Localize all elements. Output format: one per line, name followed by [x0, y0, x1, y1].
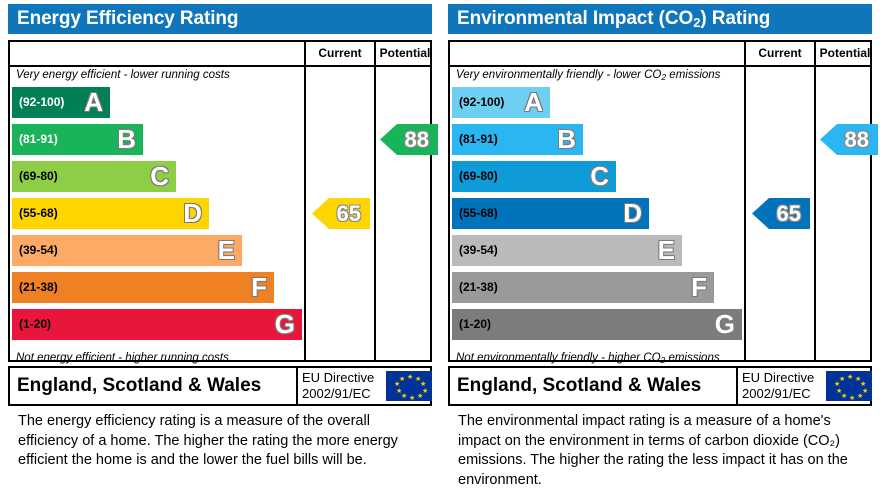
env-potential-rating-arrow: 88 [820, 124, 878, 155]
env-header-row-divider [450, 65, 870, 67]
energy-band-d: (55-68) D [12, 198, 209, 229]
energy-column-header-current: Current [306, 42, 374, 65]
energy-current-rating-arrow: 65 [312, 198, 370, 229]
env-band-e: (39-54) E [452, 235, 682, 266]
env-current-rating-arrow: 65 [752, 198, 810, 229]
environmental-panel-title-suffix: ) Rating [700, 8, 770, 29]
eu-flag-icon: ★ ★ ★ ★ ★ ★ ★ ★ ★ ★ [826, 371, 872, 401]
env-band-f-letter: F [691, 272, 707, 303]
energy-directive-line2: 2002/91/EC [302, 386, 382, 402]
env-caption-bottom-text: Not environmentally friendly - higher CO [456, 352, 661, 364]
env-band-d-letter: D [623, 198, 642, 229]
env-band-a-range: (92-100) [459, 87, 504, 118]
energy-caption-top: Very energy efficient - lower running co… [16, 69, 301, 81]
environmental-description-text: The environmental impact rating is a mea… [458, 412, 868, 490]
energy-band-a-letter: A [84, 87, 103, 118]
environmental-title-subscript: 2 [693, 15, 700, 30]
environmental-panel-title-text: Environmental Impact (CO [457, 8, 693, 29]
energy-band-c-letter: C [150, 161, 169, 192]
eu-flag-icon: ★ ★ ★ ★ ★ ★ ★ ★ ★ ★ [386, 371, 432, 401]
energy-footer-divider [296, 368, 298, 404]
energy-footer: England, Scotland & Wales EU Directive 2… [8, 366, 432, 406]
environmental-footer: England, Scotland & Wales EU Directive 2… [448, 366, 872, 406]
energy-panel-title: Energy Efficiency Rating [8, 4, 432, 34]
energy-band-e: (39-54) E [12, 235, 242, 266]
env-column-header-potential: Potential [816, 42, 874, 65]
env-caption-bottom-sub: 2 [661, 355, 666, 365]
env-caption-bottom-suffix: emissions [665, 352, 719, 364]
energy-caption-bottom: Not energy efficient - higher running co… [16, 352, 301, 364]
energy-band-d-range: (55-68) [19, 198, 58, 229]
env-band-a-letter: A [524, 87, 543, 118]
env-column-divider-current [744, 42, 746, 360]
env-band-c: (69-80) C [452, 161, 616, 192]
env-column-divider-potential [814, 42, 816, 360]
env-caption-top-sub: 2 [661, 72, 666, 82]
energy-band-e-letter: E [218, 235, 235, 266]
energy-description-text: The energy efficiency rating is a measur… [18, 412, 428, 471]
env-band-d: (55-68) D [452, 198, 649, 229]
env-footer-divider [736, 368, 738, 404]
energy-footer-region: England, Scotland & Wales [17, 368, 261, 404]
env-band-b: (81-91) B [452, 124, 583, 155]
energy-band-e-range: (39-54) [19, 235, 58, 266]
env-directive-line2: 2002/91/EC [742, 386, 822, 402]
energy-footer-directive: EU Directive 2002/91/EC [302, 370, 382, 402]
energy-band-d-letter: D [183, 198, 202, 229]
energy-band-a: (92-100) A [12, 87, 110, 118]
env-band-g-letter: G [715, 309, 735, 340]
energy-band-f-range: (21-38) [19, 272, 58, 303]
energy-potential-rating-arrow: 88 [380, 124, 438, 155]
environmental-rating-chart: Current Potential Very environmentally f… [448, 40, 872, 362]
energy-band-c: (69-80) C [12, 161, 176, 192]
env-band-a: (92-100) A [452, 87, 550, 118]
energy-rating-chart: Current Potential Very energy efficient … [8, 40, 432, 362]
energy-band-g: (1-20) G [12, 309, 302, 340]
environmental-impact-panel: Environmental Impact (CO2) Rating Curren… [442, 0, 878, 493]
environmental-panel-title: Environmental Impact (CO2) Rating [448, 4, 872, 34]
column-divider-potential [374, 42, 376, 360]
energy-band-a-range: (92-100) [19, 87, 64, 118]
energy-band-b-range: (81-91) [19, 124, 58, 155]
energy-band-g-range: (1-20) [19, 309, 51, 340]
env-band-g-range: (1-20) [459, 309, 491, 340]
env-caption-top-text: Very environmentally friendly - lower CO [456, 69, 661, 81]
env-caption-bottom: Not environmentally friendly - higher CO… [456, 352, 741, 364]
env-band-g: (1-20) G [452, 309, 742, 340]
env-band-e-range: (39-54) [459, 235, 498, 266]
energy-band-b-letter: B [117, 124, 136, 155]
env-footer-region: England, Scotland & Wales [457, 368, 701, 404]
env-column-header-current: Current [746, 42, 814, 65]
energy-panel-title-text: Energy Efficiency Rating [17, 8, 238, 29]
energy-band-f-letter: F [251, 272, 267, 303]
env-band-b-range: (81-91) [459, 124, 498, 155]
env-band-d-range: (55-68) [459, 198, 498, 229]
env-caption-top-suffix: emissions [666, 69, 720, 81]
column-divider-current [304, 42, 306, 360]
env-caption-top: Very environmentally friendly - lower CO… [456, 69, 741, 81]
energy-band-b: (81-91) B [12, 124, 143, 155]
env-band-c-range: (69-80) [459, 161, 498, 192]
header-row-divider [10, 65, 430, 67]
env-band-e-letter: E [658, 235, 675, 266]
env-band-f: (21-38) F [452, 272, 714, 303]
env-band-b-letter: B [557, 124, 576, 155]
env-band-c-letter: C [590, 161, 609, 192]
env-band-f-range: (21-38) [459, 272, 498, 303]
energy-bands-list: (92-100) A (81-91) B (69-80) C (55-68) D… [10, 87, 302, 349]
epc-certificate-page: Energy Efficiency Rating Current Potenti… [0, 0, 880, 493]
env-footer-directive: EU Directive 2002/91/EC [742, 370, 822, 402]
energy-band-f: (21-38) F [12, 272, 274, 303]
env-directive-line1: EU Directive [742, 370, 822, 386]
energy-column-header-potential: Potential [376, 42, 434, 65]
energy-efficiency-panel: Energy Efficiency Rating Current Potenti… [2, 0, 438, 493]
environmental-bands-list: (92-100) A (81-91) B (69-80) C (55-68) D… [450, 87, 742, 349]
energy-directive-line1: EU Directive [302, 370, 382, 386]
energy-band-c-range: (69-80) [19, 161, 58, 192]
energy-band-g-letter: G [275, 309, 295, 340]
